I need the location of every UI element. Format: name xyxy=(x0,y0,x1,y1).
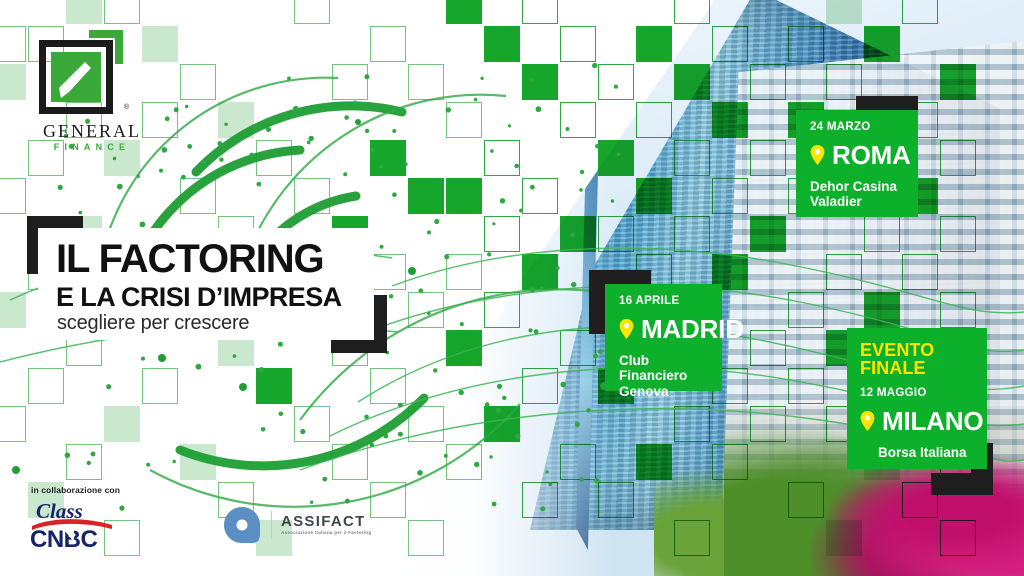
general-finance-logo: ® GENERAL FINANCE xyxy=(33,30,151,150)
mosaic-square xyxy=(712,444,748,480)
mosaic-square xyxy=(788,368,824,404)
mosaic-square xyxy=(750,64,786,100)
mosaic-square xyxy=(408,406,444,442)
mosaic-square xyxy=(788,26,824,62)
mosaic-square xyxy=(446,444,482,480)
mosaic-square xyxy=(560,102,596,138)
mosaic-square xyxy=(712,102,748,138)
mosaic-square xyxy=(674,216,710,252)
logo-mark: ® xyxy=(39,30,131,118)
mosaic-square xyxy=(446,178,482,214)
location-pin-icon xyxy=(619,319,634,339)
mosaic-square xyxy=(66,0,102,24)
mosaic-square xyxy=(902,254,938,290)
mosaic-square xyxy=(370,140,406,176)
title-line-2: E LA CRISI D’IMPRESA xyxy=(56,284,342,311)
event-card-milano[interactable]: EVENTO FINALE 12 MAGGIO MILANO Borsa Ita… xyxy=(847,328,987,469)
mosaic-square xyxy=(256,140,292,176)
mosaic-square xyxy=(712,178,748,214)
mosaic-square xyxy=(522,0,558,24)
mosaic-square xyxy=(560,444,596,480)
mosaic-square xyxy=(674,0,710,24)
mosaic-square xyxy=(408,520,444,556)
mosaic-square xyxy=(370,368,406,404)
mosaic-square xyxy=(864,292,900,328)
mosaic-square xyxy=(750,406,786,442)
mosaic-square xyxy=(0,178,26,214)
title-line-1: IL FACTORING xyxy=(56,239,324,279)
mosaic-square xyxy=(940,216,976,252)
mosaic-square xyxy=(408,178,444,214)
mosaic-square xyxy=(446,0,482,24)
cnbc-wordmark: CNBC xyxy=(30,526,97,549)
diagonal-arrow-icon xyxy=(55,56,101,100)
mosaic-square xyxy=(636,178,672,214)
mosaic-square xyxy=(636,102,672,138)
mosaic-square xyxy=(0,64,26,100)
mosaic-square xyxy=(598,140,634,176)
mosaic-square xyxy=(28,368,64,404)
mosaic-square xyxy=(864,216,900,252)
madrid-city: MADRID xyxy=(641,316,744,342)
mosaic-square xyxy=(788,482,824,518)
mosaic-square xyxy=(66,444,102,480)
mosaic-square xyxy=(256,368,292,404)
event-card-madrid[interactable]: 16 APRILE MADRID Club Financiero Genova xyxy=(605,284,722,391)
mosaic-square xyxy=(104,406,140,442)
mosaic-square xyxy=(598,216,634,252)
mosaic-square xyxy=(902,0,938,24)
assifact-name: ASSIFACT xyxy=(281,514,371,529)
mosaic-square xyxy=(750,140,786,176)
mosaic-square xyxy=(522,482,558,518)
mosaic-square xyxy=(826,64,862,100)
class-cnbc-logo: Class CNBC xyxy=(28,497,120,549)
event-card-roma[interactable]: 24 MARZO ROMA Dehor Casina Valadier xyxy=(796,110,918,217)
roma-venue: Dehor Casina Valadier xyxy=(810,179,902,211)
mosaic-square xyxy=(826,0,862,24)
location-pin-icon xyxy=(860,411,875,431)
mosaic-square xyxy=(636,444,672,480)
mosaic-square xyxy=(218,102,254,138)
mosaic-square xyxy=(826,520,862,556)
roma-date: 24 MARZO xyxy=(810,122,918,134)
mosaic-square xyxy=(484,140,520,176)
mosaic-square xyxy=(940,520,976,556)
roma-city: ROMA xyxy=(832,142,911,168)
mosaic-square xyxy=(332,444,368,480)
mosaic-square xyxy=(332,64,368,100)
mosaic-square xyxy=(560,330,596,366)
mosaic-square xyxy=(446,102,482,138)
mosaic-square xyxy=(180,178,216,214)
mosaic-square xyxy=(940,292,976,328)
assifact-mark-icon xyxy=(222,505,262,545)
mosaic-square xyxy=(560,216,596,252)
mosaic-square xyxy=(940,140,976,176)
mosaic-square xyxy=(0,406,26,442)
mosaic-square xyxy=(484,26,520,62)
mosaic-square xyxy=(522,368,558,404)
mosaic-square xyxy=(294,406,330,442)
mosaic-square xyxy=(294,0,330,24)
mosaic-square xyxy=(674,520,710,556)
madrid-venue: Club Financiero Genova xyxy=(619,353,685,401)
mosaic-square xyxy=(370,254,406,290)
mosaic-square xyxy=(636,26,672,62)
mosaic-square xyxy=(370,26,406,62)
mosaic-square xyxy=(560,26,596,62)
mosaic-square xyxy=(408,292,444,328)
mosaic-square xyxy=(674,140,710,176)
milano-final-event-header: EVENTO FINALE xyxy=(860,341,987,377)
milano-city: MILANO xyxy=(882,408,983,434)
assifact-divider xyxy=(271,511,272,539)
mosaic-square xyxy=(446,330,482,366)
mosaic-square xyxy=(674,406,710,442)
assifact-logo: ASSIFACT Associazione Italiana per il Fa… xyxy=(222,503,367,547)
mosaic-square xyxy=(522,64,558,100)
mosaic-square xyxy=(142,368,178,404)
mosaic-square xyxy=(750,216,786,252)
mosaic-square xyxy=(750,330,786,366)
mosaic-square xyxy=(788,292,824,328)
mosaic-square xyxy=(104,0,140,24)
mosaic-square xyxy=(940,64,976,100)
mosaic-square xyxy=(484,406,520,442)
mosaic-square xyxy=(294,178,330,214)
logo-wordmark-finance: FINANCE xyxy=(33,143,151,152)
registered-mark: ® xyxy=(124,104,129,111)
mosaic-square xyxy=(180,444,216,480)
mosaic-square xyxy=(484,292,520,328)
mosaic-square xyxy=(0,26,26,62)
promo-poster: ® GENERAL FINANCE IL FACTORING E LA CRIS… xyxy=(0,0,1024,576)
logo-wordmark-general: GENERAL xyxy=(33,122,151,140)
mosaic-square xyxy=(598,482,634,518)
assifact-tagline: Associazione Italiana per il Factoring xyxy=(281,531,371,536)
mosaic-square xyxy=(864,26,900,62)
mosaic-square xyxy=(408,64,444,100)
mosaic-square xyxy=(712,26,748,62)
mosaic-square xyxy=(370,482,406,518)
milano-date: 12 MAGGIO xyxy=(860,388,987,400)
madrid-date: 16 APRILE xyxy=(619,296,722,308)
mosaic-square xyxy=(522,254,558,290)
collaboration-label: in collaborazione con xyxy=(31,485,120,495)
mosaic-square xyxy=(446,254,482,290)
location-pin-icon xyxy=(810,145,825,165)
milano-venue: Borsa Italiana xyxy=(878,445,987,461)
title-subtitle: scegliere per crescere xyxy=(57,313,249,333)
mosaic-square xyxy=(522,178,558,214)
mosaic-square xyxy=(484,216,520,252)
mosaic-square xyxy=(0,292,26,328)
mosaic-square xyxy=(180,64,216,100)
mosaic-square xyxy=(674,64,710,100)
mosaic-square xyxy=(826,254,862,290)
mosaic-square xyxy=(598,64,634,100)
